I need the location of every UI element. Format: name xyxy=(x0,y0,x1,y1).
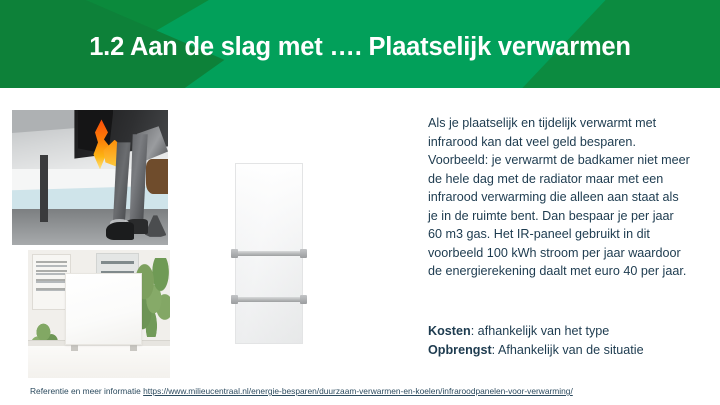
kosten-value: : afhankelijk van het type xyxy=(471,324,610,338)
towel-rail-upper xyxy=(231,251,307,256)
reference-link[interactable]: https://www.milieucentraal.nl/energie-be… xyxy=(143,386,573,396)
towel-rail-lower-bracket-right xyxy=(300,295,307,304)
reference-footer: Referentie en meer informatie https://ww… xyxy=(30,386,573,396)
slide-header-band: 1.2 Aan de slag met …. Plaatselijk verwa… xyxy=(0,0,720,88)
photo-chair-seat xyxy=(146,159,168,194)
desk-heater-photo xyxy=(12,110,168,245)
infrared-panel-heater xyxy=(65,273,142,345)
towel-rail-lower-bracket-left xyxy=(231,295,238,304)
towel-rail-lower xyxy=(231,297,307,302)
towel-rail-upper-bracket-right xyxy=(300,249,307,258)
towel-rail-upper-bracket-left xyxy=(231,249,238,258)
opbrengst-value: : Afhankelijk van de situatie xyxy=(492,343,644,357)
kosten-label: Kosten xyxy=(428,324,471,338)
photo-shoe-front xyxy=(106,222,134,240)
facts-block: Kosten: afhankelijk van het type Opbreng… xyxy=(428,322,708,360)
white-panel-photo xyxy=(28,250,170,378)
opbrengst-label: Opbrengst xyxy=(428,343,492,357)
opbrengst-row: Opbrengst: Afhankelijk van de situatie xyxy=(428,341,708,360)
body-paragraph: Als je plaatselijk en tijdelijk verwarmt… xyxy=(428,114,690,281)
kosten-row: Kosten: afhankelijk van het type xyxy=(428,322,708,341)
reference-prefix: Referentie en meer informatie xyxy=(30,386,143,396)
panel-photo-cabinet xyxy=(28,346,170,378)
page-title: 1.2 Aan de slag met …. Plaatselijk verwa… xyxy=(0,0,720,88)
photo-column xyxy=(40,155,48,223)
